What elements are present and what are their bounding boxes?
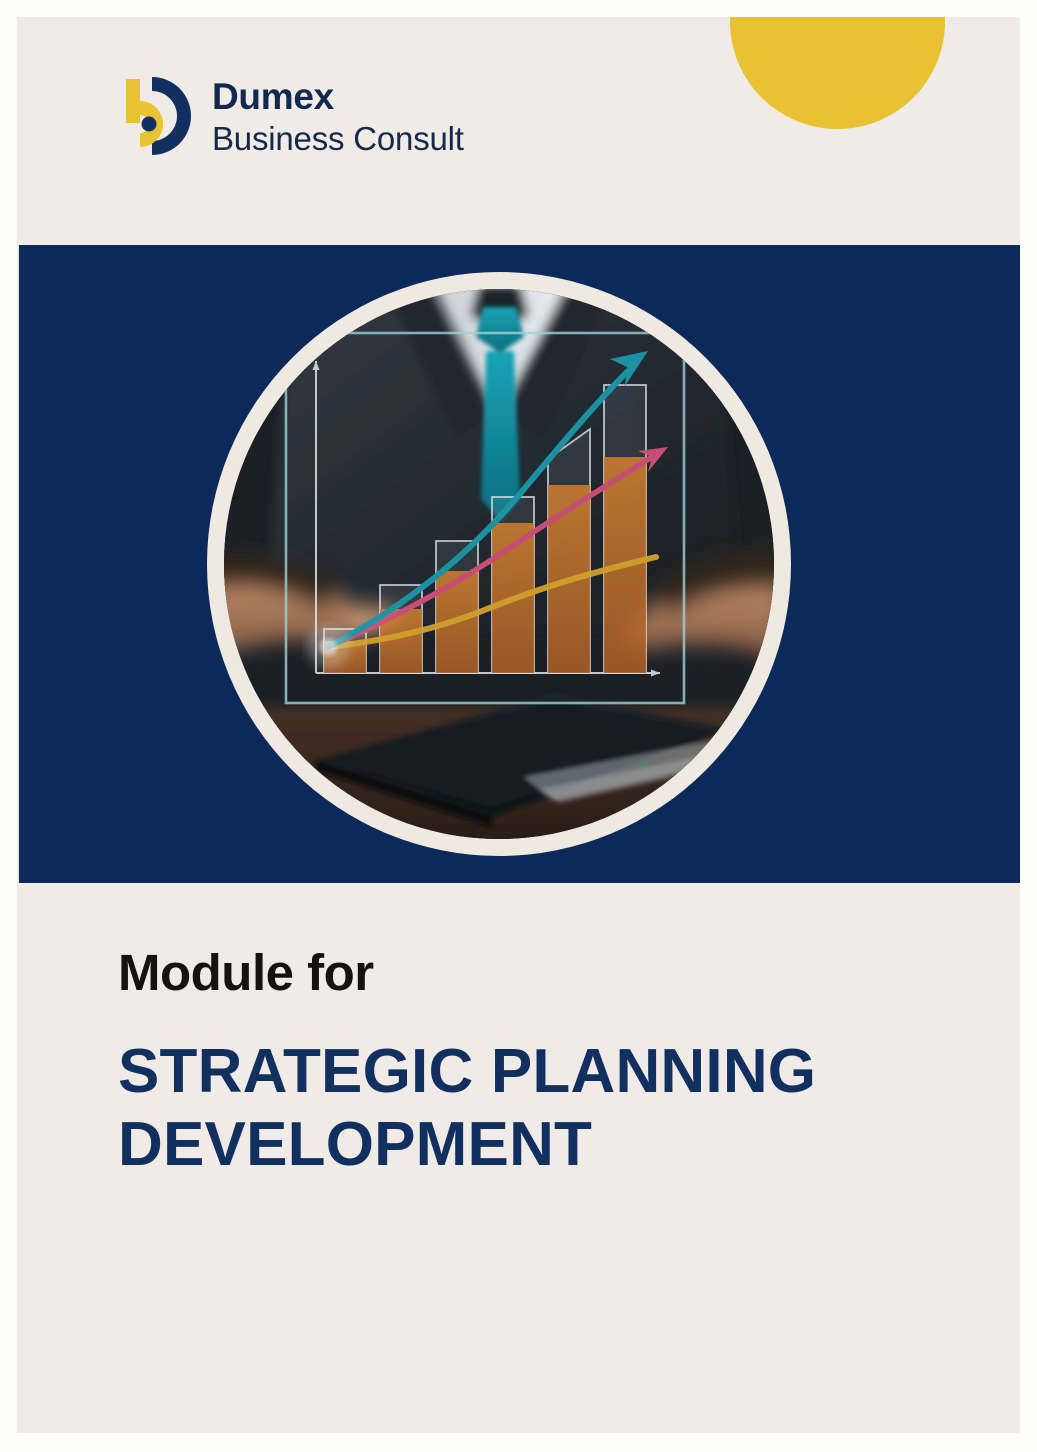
brand-tagline: Business Consult (212, 122, 464, 155)
title-block: Module for Strategic Planning Developmen… (118, 945, 968, 1181)
brand-wordmark: Dumex Business Consult (212, 78, 464, 155)
page-title-line-2: Development (118, 1108, 968, 1181)
dumex-b-monogram-icon (118, 73, 198, 159)
yellow-circle-decoration (730, 17, 945, 129)
hero-photograph (224, 289, 774, 839)
document-page: Dumex Business Consult (17, 17, 1020, 1433)
brand-name: Dumex (212, 78, 464, 115)
page-title-line-1: Strategic Planning (118, 1035, 968, 1108)
page-title: Strategic Planning Development (118, 1035, 968, 1181)
circular-photo-frame (207, 272, 791, 856)
brand-logo: Dumex Business Consult (118, 73, 464, 159)
module-eyebrow: Module for (118, 945, 968, 1001)
hero-image-band (19, 245, 1020, 883)
